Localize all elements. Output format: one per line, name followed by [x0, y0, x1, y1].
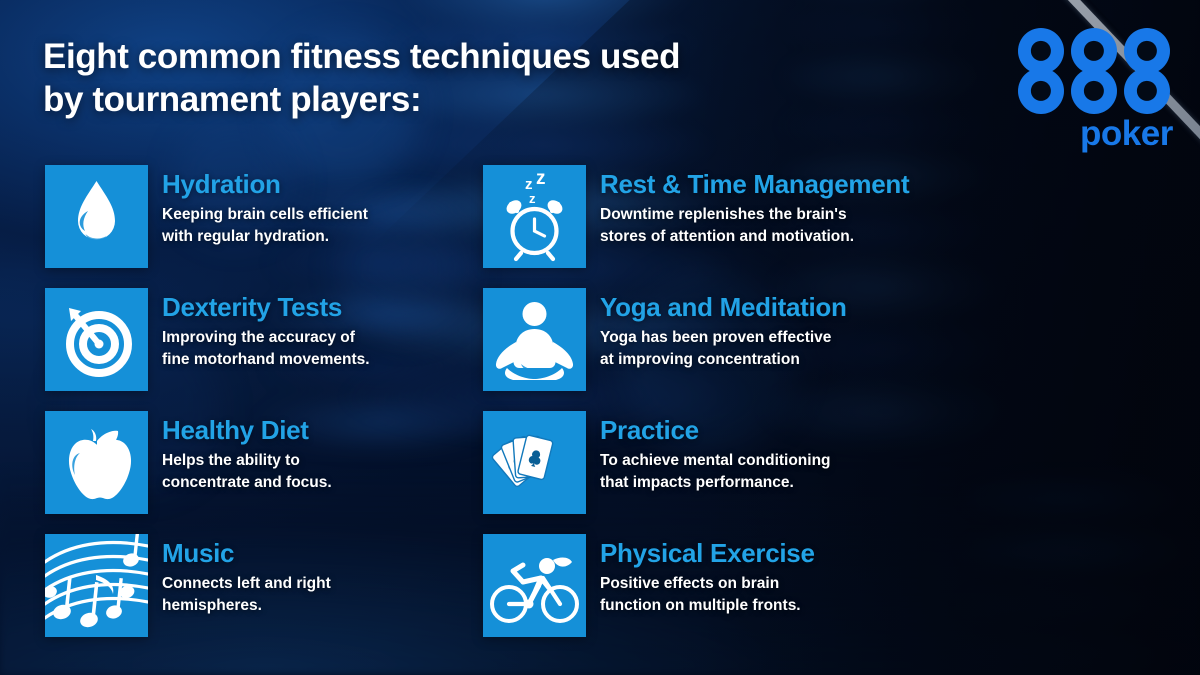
item-title: Yoga and Meditation	[600, 294, 847, 322]
list-item: Physical Exercise Positive effects on br…	[483, 534, 815, 637]
item-title: Rest & Time Management	[600, 171, 909, 199]
yoga-lotus-icon	[483, 288, 586, 391]
list-item: Music Connects left and right hemisphere…	[45, 534, 331, 637]
item-description: Positive effects on brain function on mu…	[600, 573, 815, 617]
item-title: Hydration	[162, 171, 368, 199]
target-arrow-icon	[45, 288, 148, 391]
item-description: To achieve mental conditioning that impa…	[600, 450, 831, 494]
item-description: Helps the ability to concentrate and foc…	[162, 450, 332, 494]
item-description: Keeping brain cells efficient with regul…	[162, 204, 368, 248]
cyclist-icon	[483, 534, 586, 637]
logo-poker-wordmark: poker	[1080, 116, 1173, 151]
list-item: Hydration Keeping brain cells efficient …	[45, 165, 368, 268]
playing-cards-fan-icon	[483, 411, 586, 514]
item-title: Music	[162, 540, 331, 568]
item-title: Practice	[600, 417, 831, 445]
item-description: Improving the accuracy of fine motorhand…	[162, 327, 370, 371]
list-item: Healthy Diet Helps the ability to concen…	[45, 411, 332, 514]
page-title: Eight common fitness techniques used by …	[43, 36, 723, 121]
item-description: Yoga has been proven effective at improv…	[600, 327, 847, 371]
item-title: Physical Exercise	[600, 540, 815, 568]
item-title: Dexterity Tests	[162, 294, 370, 322]
list-item: z z z	[483, 165, 909, 268]
list-item: Practice To achieve mental conditioning …	[483, 411, 831, 514]
music-notes-icon	[45, 534, 148, 637]
infographic-canvas: Eight common fitness techniques used by …	[0, 0, 1200, 675]
brand-logo-888poker: poker	[1018, 28, 1170, 158]
water-drop-icon	[45, 165, 148, 268]
list-item: Yoga and Meditation Yoga has been proven…	[483, 288, 847, 391]
item-description: Connects left and right hemispheres.	[162, 573, 331, 617]
item-title: Healthy Diet	[162, 417, 332, 445]
item-description: Downtime replenishes the brain's stores …	[600, 204, 909, 248]
svg-text:z: z	[536, 168, 546, 189]
apple-icon	[45, 411, 148, 514]
list-item: Dexterity Tests Improving the accuracy o…	[45, 288, 370, 391]
alarm-clock-sleep-icon: z z z	[483, 165, 586, 268]
logo-888-mark	[1018, 28, 1170, 114]
svg-text:z: z	[529, 191, 536, 206]
